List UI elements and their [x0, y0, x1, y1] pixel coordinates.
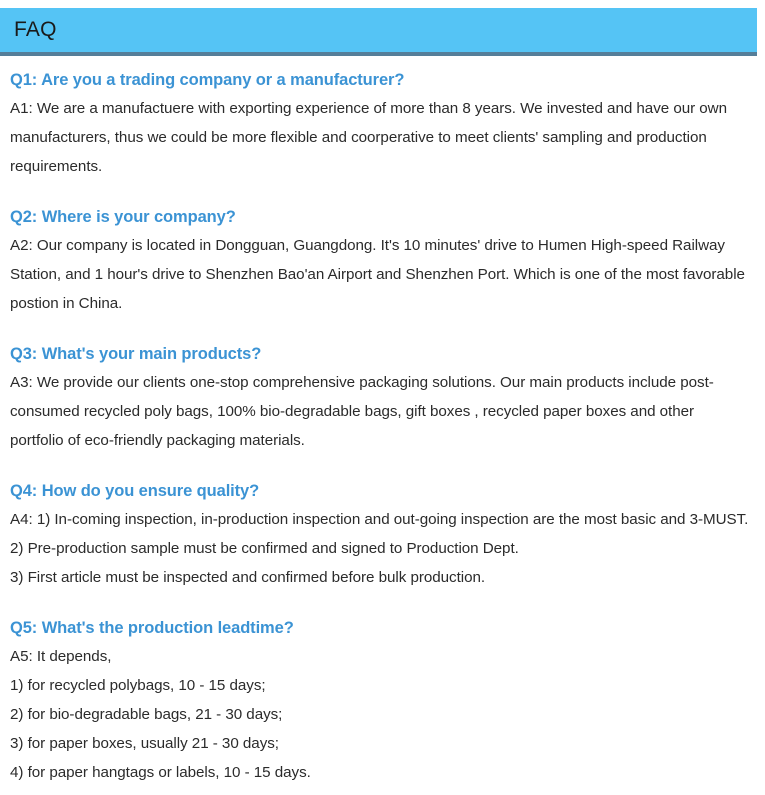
faq-page: FAQ Q1: Are you a trading company or a m…	[0, 0, 765, 748]
faq-question-1: Q1: Are you a trading company or a manuf…	[10, 68, 751, 92]
faq-answer-4: A4: 1) In-coming inspection, in-producti…	[10, 505, 751, 592]
faq-answer-2: A2: Our company is located in Dongguan, …	[10, 231, 751, 318]
faq-answer-3: A3: We provide our clients one-stop comp…	[10, 368, 751, 455]
faq-content: Q1: Are you a trading company or a manuf…	[0, 68, 765, 795]
faq-item-4: Q4: How do you ensure quality? A4: 1) In…	[0, 479, 765, 592]
faq-banner-title: FAQ	[14, 17, 57, 43]
faq-item-5: Q5: What's the production leadtime? A5: …	[0, 616, 765, 787]
faq-spacer-3	[0, 463, 765, 479]
faq-spacer-4	[0, 600, 765, 616]
faq-answer-5: A5: It depends, 1) for recycled polybags…	[10, 642, 751, 787]
faq-spacer-2	[0, 326, 765, 342]
faq-answer-1: A1: We are a manufactuere with exporting…	[10, 94, 751, 181]
faq-banner: FAQ	[0, 8, 757, 56]
faq-question-2: Q2: Where is your company?	[10, 205, 751, 229]
faq-question-4: Q4: How do you ensure quality?	[10, 479, 751, 503]
faq-question-3: Q3: What's your main products?	[10, 342, 751, 366]
faq-spacer-1	[0, 189, 765, 205]
faq-question-5: Q5: What's the production leadtime?	[10, 616, 751, 640]
faq-item-2: Q2: Where is your company? A2: Our compa…	[0, 205, 765, 318]
faq-item-3: Q3: What's your main products? A3: We pr…	[0, 342, 765, 455]
faq-item-1: Q1: Are you a trading company or a manuf…	[0, 68, 765, 181]
